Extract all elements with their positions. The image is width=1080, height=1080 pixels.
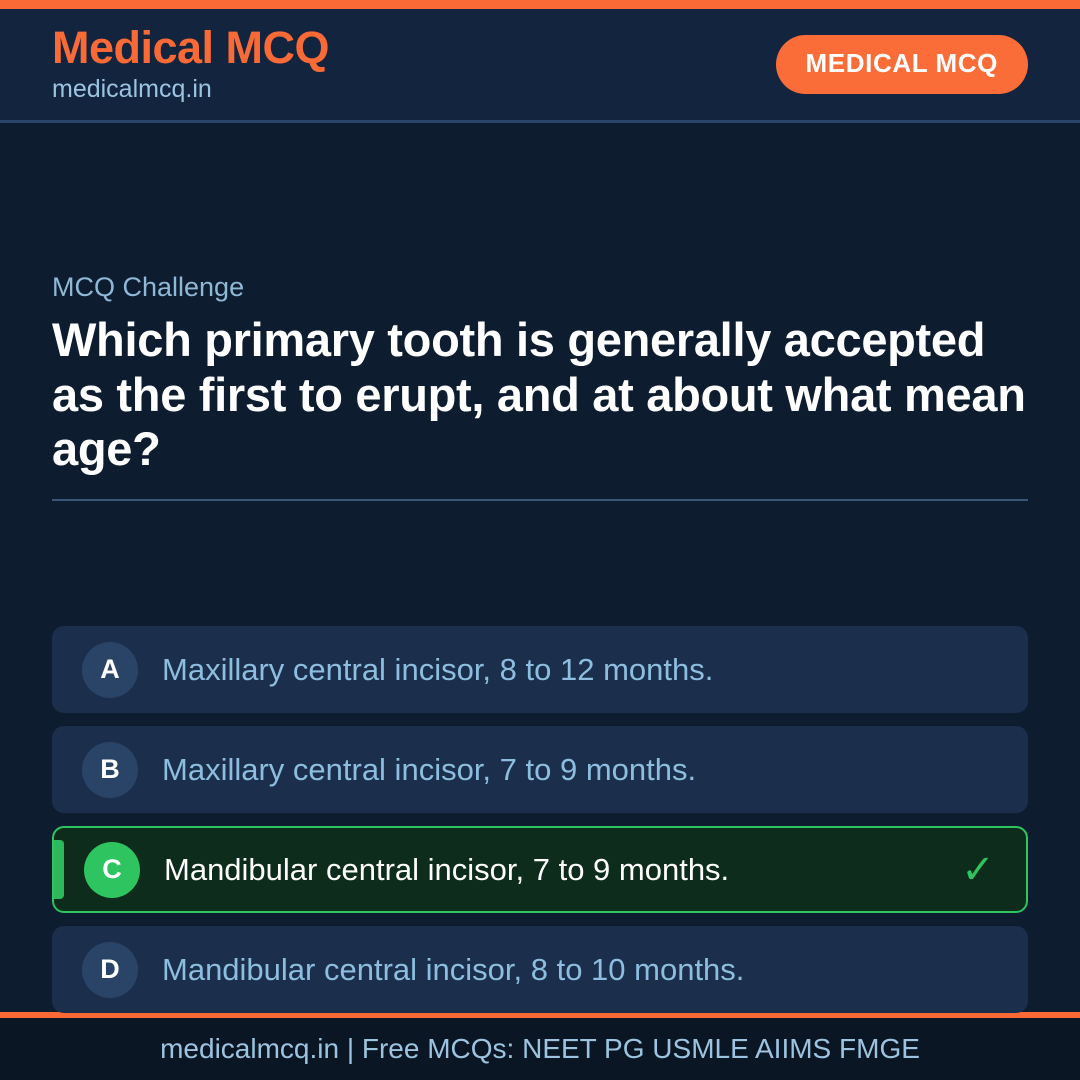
- option-text: Mandibular central incisor, 7 to 9 month…: [164, 851, 956, 888]
- question-block: MCQ Challenge Which primary tooth is gen…: [52, 271, 1028, 501]
- header-badge: MEDICAL MCQ: [776, 35, 1028, 94]
- footer-text: medicalmcq.in | Free MCQs: NEET PG USMLE…: [160, 1035, 920, 1063]
- body-area: MCQ Challenge Which primary tooth is gen…: [0, 123, 1080, 1012]
- options-list: AMaxillary central incisor, 8 to 12 mont…: [52, 626, 1028, 1013]
- option-letter-badge: B: [82, 742, 138, 798]
- option-text: Maxillary central incisor, 7 to 9 months…: [162, 751, 958, 788]
- option-text: Mandibular central incisor, 8 to 10 mont…: [162, 951, 958, 988]
- option-c[interactable]: CMandibular central incisor, 7 to 9 mont…: [52, 826, 1028, 913]
- brand-title: Medical MCQ: [52, 24, 329, 71]
- option-letter-badge: A: [82, 642, 138, 698]
- question-divider: [52, 499, 1028, 501]
- brand-block: Medical MCQ medicalmcq.in: [52, 24, 329, 106]
- question-kicker: MCQ Challenge: [52, 271, 1028, 303]
- option-d[interactable]: DMandibular central incisor, 8 to 10 mon…: [52, 926, 1028, 1013]
- header: Medical MCQ medicalmcq.in MEDICAL MCQ: [0, 9, 1080, 123]
- option-letter-badge: C: [84, 842, 140, 898]
- brand-subtitle: medicalmcq.in: [52, 73, 329, 106]
- correct-check-icon: ✓: [956, 850, 1000, 890]
- mcq-card: Medical MCQ medicalmcq.in MEDICAL MCQ MC…: [0, 0, 1080, 1080]
- correct-accent-bar: [54, 840, 64, 899]
- question-text: Which primary tooth is generally accepte…: [52, 313, 1028, 477]
- option-letter-badge: D: [82, 942, 138, 998]
- top-accent-bar: [0, 0, 1080, 9]
- option-text: Maxillary central incisor, 8 to 12 month…: [162, 651, 958, 688]
- option-a[interactable]: AMaxillary central incisor, 8 to 12 mont…: [52, 626, 1028, 713]
- footer: medicalmcq.in | Free MCQs: NEET PG USMLE…: [0, 1018, 1080, 1080]
- option-b[interactable]: BMaxillary central incisor, 7 to 9 month…: [52, 726, 1028, 813]
